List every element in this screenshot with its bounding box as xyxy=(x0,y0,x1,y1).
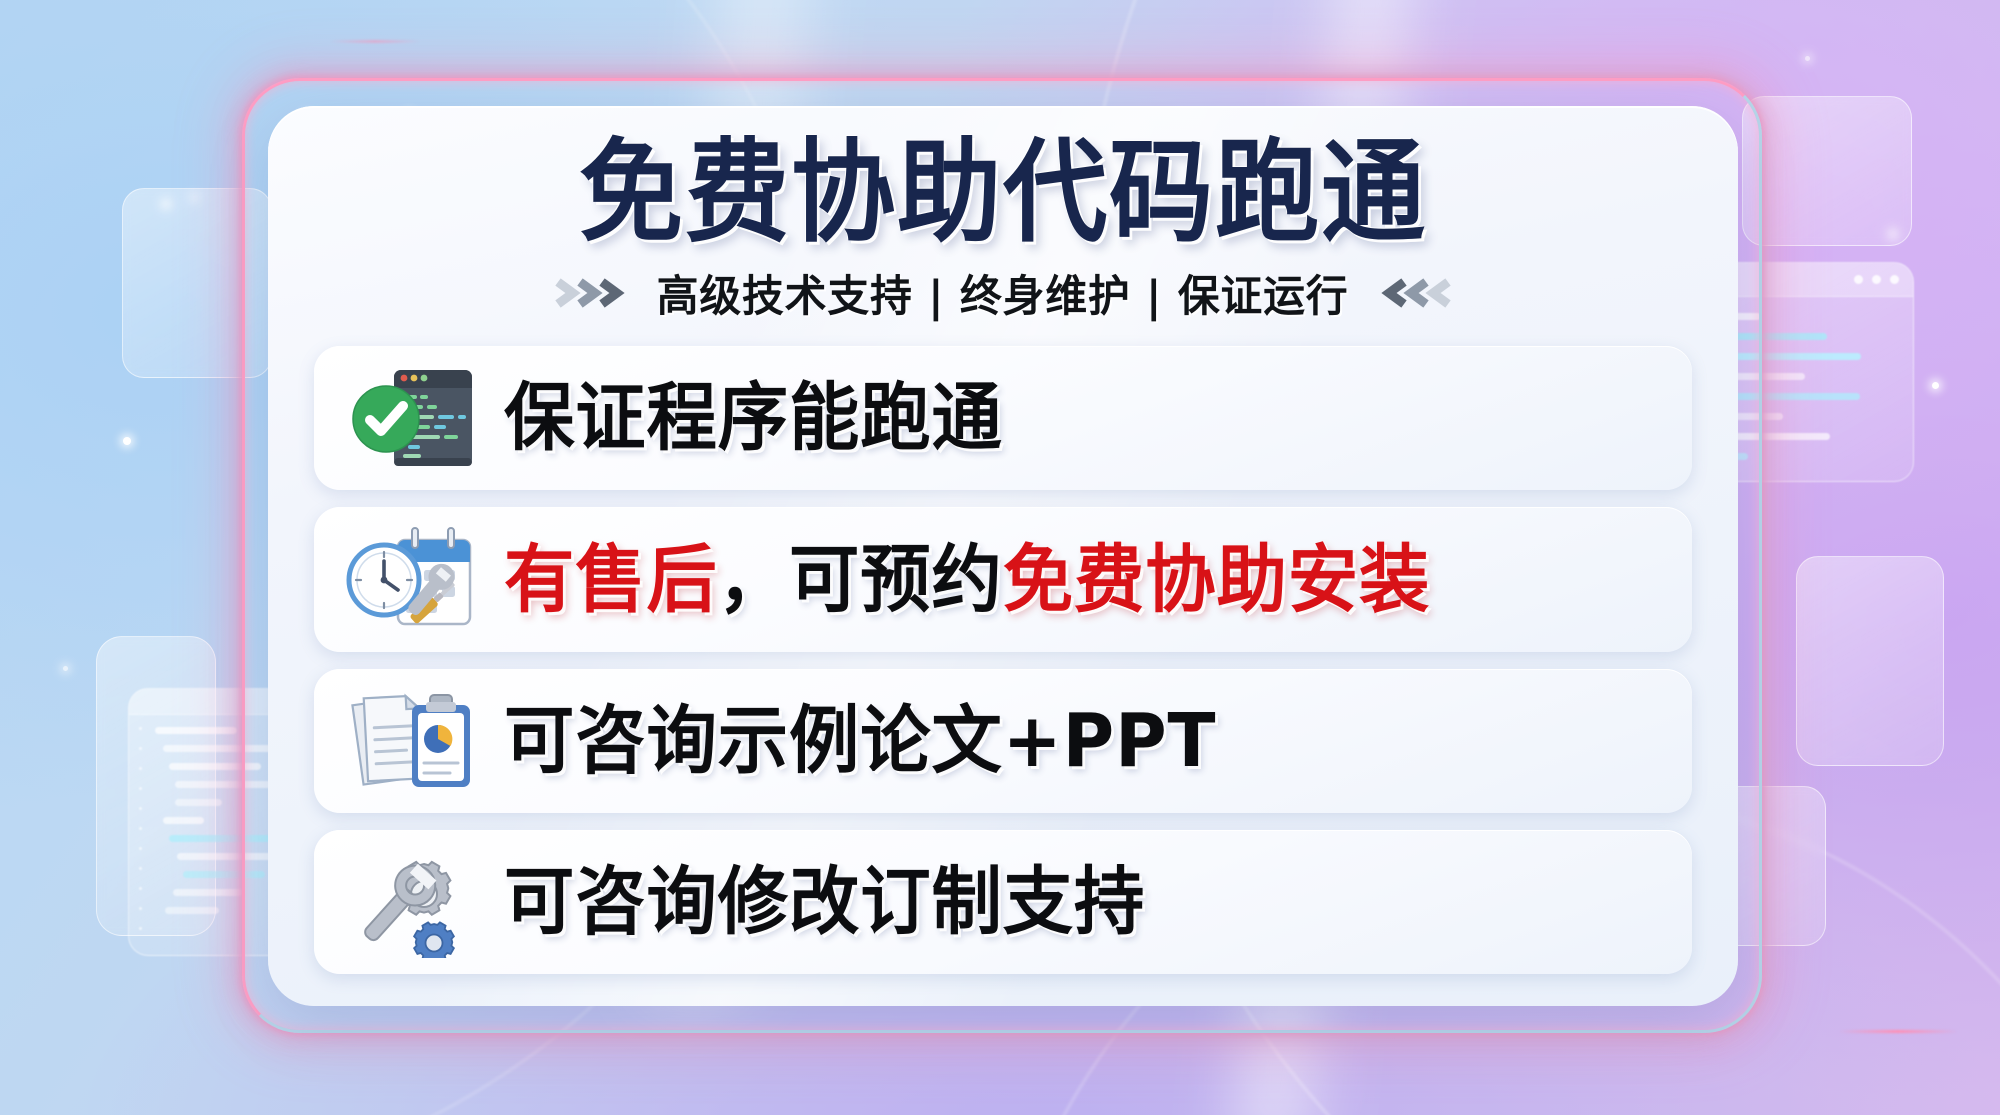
feature-row-text: 有售后，可预约免费协助安装 xyxy=(504,543,1430,617)
feature-row-text: 可咨询修改订制支持 xyxy=(504,865,1145,939)
sparkle-particle xyxy=(123,437,131,445)
window-dot-icon xyxy=(1872,275,1881,284)
glass-panel-right-mid xyxy=(1796,556,1944,766)
code-line xyxy=(175,799,222,806)
window-dot-icon xyxy=(1854,275,1863,284)
feature-row-text: 可咨询示例论文+PPT xyxy=(504,704,1216,778)
code-window-check-icon xyxy=(346,362,478,474)
code-line xyxy=(165,907,219,914)
glass-panel-right-upper xyxy=(1742,96,1912,246)
sparkle-particle xyxy=(163,201,169,207)
window-dot-icon xyxy=(1890,275,1899,284)
sparkle-particle xyxy=(63,666,68,671)
sparkle-particle xyxy=(1890,231,1896,237)
main-card: 免费协助代码跑通 高级技术支持 | 终身维护 | 保证运行 xyxy=(268,106,1738,1006)
feature-row[interactable]: 保证程序能跑通 xyxy=(314,346,1692,490)
feature-list: 保证程序能跑通 xyxy=(314,346,1692,974)
glass-panel-left-lower xyxy=(96,636,216,936)
feature-row[interactable]: 可咨询修改订制支持 xyxy=(314,830,1692,974)
chevrons-right-icon xyxy=(552,275,630,311)
feature-text-segment: 保证程序能跑通 xyxy=(504,375,1003,461)
banner-stage: 免费协助代码跑通 高级技术支持 | 终身维护 | 保证运行 xyxy=(0,0,2000,1115)
sparkle-particle xyxy=(1805,56,1810,61)
feature-row-text: 保证程序能跑通 xyxy=(504,381,1003,455)
clock-calendar-tools-icon xyxy=(346,524,478,636)
wrench-gears-icon xyxy=(346,846,478,958)
code-line xyxy=(169,763,261,770)
feature-text-segment: 可咨询示例论文+PPT xyxy=(504,698,1216,784)
feature-text-segment: 有售后 xyxy=(504,537,718,623)
light-streak xyxy=(1838,1030,1958,1033)
code-gutter xyxy=(139,727,141,927)
code-line xyxy=(155,727,237,734)
feature-text-segment: 可咨询修改订制支持 xyxy=(504,859,1145,945)
code-line xyxy=(173,889,243,896)
subtitle-text: 高级技术支持 | 终身维护 | 保证运行 xyxy=(657,262,1349,324)
feature-row[interactable]: 可咨询示例论文+PPT xyxy=(314,669,1692,813)
documents-clipboard-chart-icon xyxy=(346,685,478,797)
light-streak xyxy=(330,40,420,43)
code-line xyxy=(177,853,272,860)
code-line xyxy=(163,745,283,752)
glass-panel-left-upper xyxy=(122,188,272,378)
sparkle-particle xyxy=(1932,382,1939,389)
feature-text-segment: 免费协助安装 xyxy=(1003,537,1431,623)
feature-row[interactable]: 有售后，可预约免费协助安装 xyxy=(314,507,1692,651)
subtitle-row: 高级技术支持 | 终身维护 | 保证运行 xyxy=(314,262,1692,324)
sparkle-particle xyxy=(192,196,196,200)
feature-text-segment: ，可预约 xyxy=(718,537,1003,623)
code-line xyxy=(175,781,279,788)
code-line xyxy=(183,871,265,878)
chevrons-left-icon xyxy=(1376,275,1454,311)
code-line xyxy=(169,835,280,842)
code-line xyxy=(163,817,204,824)
page-title: 免费协助代码跑通 xyxy=(362,136,1644,250)
